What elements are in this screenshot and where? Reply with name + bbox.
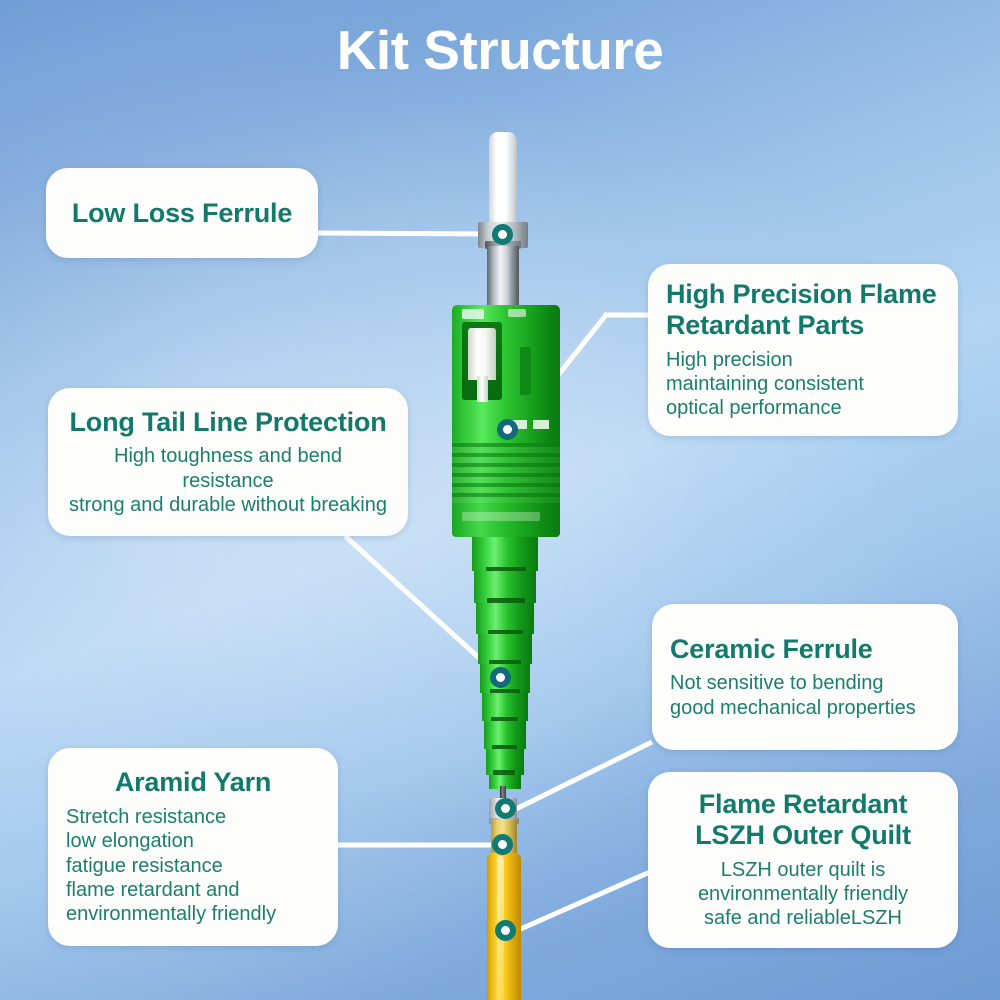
leader-line-ceramic-ferrule <box>516 742 652 809</box>
callout-heading-aramid-yarn: Aramid Yarn <box>115 767 271 798</box>
boot-notch-8 <box>493 770 515 777</box>
leader-line-low-loss-ferrule <box>318 233 494 234</box>
strain-relief-boot-segment-8 <box>486 749 524 775</box>
housing-foot <box>452 503 560 537</box>
leader-line-high-precision-diagonal <box>516 315 606 428</box>
callout-body-high-precision: High precision maintaining consistent op… <box>666 348 940 421</box>
strain-relief-boot-segment-9 <box>489 775 521 789</box>
body-line-4: flame retardant and <box>66 878 320 902</box>
callout-dot-high-precision <box>497 419 518 440</box>
leader-line-lszh <box>516 872 650 931</box>
boot-notch-1 <box>486 567 526 574</box>
latch-window <box>462 322 502 400</box>
leader-line-long-tail <box>345 536 500 677</box>
body-line-2: good mechanical properties <box>670 696 940 720</box>
boot-notch-2 <box>487 598 525 605</box>
metal-barrel <box>487 246 519 308</box>
housing-bar-right <box>533 420 549 429</box>
body-line-3: fatigue resistance <box>66 854 320 878</box>
housing-ribbed-grip <box>452 443 560 503</box>
boot-notch-7 <box>492 745 517 752</box>
callout-card-flame-retardant-lszh-outer-quilt[interactable]: Flame Retardant LSZH Outer Quilt LSZH ou… <box>648 772 958 948</box>
housing-foot-highlight <box>462 512 540 521</box>
ceramic-ferrule-tip <box>489 132 517 227</box>
strain-relief-boot-segment-7 <box>484 721 526 749</box>
heading-line-2: Retardant Parts <box>666 310 864 340</box>
boot-notch-5 <box>490 689 520 696</box>
callout-heading-ceramic-ferrule: Ceramic Ferrule <box>670 634 940 665</box>
callout-body-lszh: LSZH outer quilt is environmentally frie… <box>666 858 940 931</box>
callout-dot-low-loss-ferrule <box>492 224 513 245</box>
callout-heading-high-precision: High Precision Flame Retardant Parts <box>666 279 940 341</box>
strain-relief-boot-segment-6 <box>482 693 528 721</box>
body-line-1: High precision <box>666 348 940 372</box>
callout-heading-low-loss-ferrule: Low Loss Ferrule <box>72 198 292 229</box>
callout-card-long-tail-line-protection[interactable]: Long Tail Line Protection High toughness… <box>48 388 408 536</box>
housing-side-slot <box>520 347 531 395</box>
callout-body-long-tail: High toughness and bend resistance stron… <box>66 444 390 517</box>
body-line-3: safe and reliableLSZH <box>666 906 940 930</box>
strain-relief-boot-segment-2 <box>474 571 536 603</box>
white-latch-body <box>468 328 496 380</box>
callout-dot-ceramic-ferrule <box>495 798 516 819</box>
callout-card-high-precision-flame-retardant-parts[interactable]: High Precision Flame Retardant Parts Hig… <box>648 264 958 436</box>
body-line-1: LSZH outer quilt is <box>666 858 940 882</box>
body-line-2: strong and durable without breaking <box>66 493 390 517</box>
body-line-1: High toughness and bend resistance <box>66 444 390 493</box>
page-title: Kit Structure <box>0 18 1000 82</box>
callout-card-ceramic-ferrule[interactable]: Ceramic Ferrule Not sensitive to bending… <box>652 604 958 750</box>
heading-line-2: LSZH Outer Quilt <box>695 820 911 850</box>
body-line-3: optical performance <box>666 396 940 420</box>
body-line-2: low elongation <box>66 829 320 853</box>
callout-dot-long-tail <box>490 667 511 688</box>
strain-relief-boot-segment-3 <box>476 603 534 634</box>
white-latch-stem <box>477 376 488 402</box>
callout-body-aramid-yarn: Stretch resistance low elongation fatigu… <box>66 805 320 927</box>
body-line-2: environmentally friendly <box>666 882 940 906</box>
boot-notch-4 <box>489 660 521 667</box>
housing-notch-left <box>462 309 484 319</box>
infographic-canvas: Kit Structure <box>0 0 1000 1000</box>
callout-card-low-loss-ferrule[interactable]: Low Loss Ferrule <box>46 168 318 258</box>
body-line-1: Not sensitive to bending <box>670 671 940 695</box>
callout-dot-aramid-yarn <box>492 834 513 855</box>
body-line-5: environmentally friendly <box>66 902 320 926</box>
housing-notch-right <box>508 309 526 317</box>
boot-notch-6 <box>491 717 518 724</box>
strain-relief-boot-segment-4 <box>478 634 532 664</box>
callout-body-ceramic-ferrule: Not sensitive to bending good mechanical… <box>670 671 940 720</box>
callout-card-aramid-yarn[interactable]: Aramid Yarn Stretch resistance low elong… <box>48 748 338 946</box>
callout-dot-lszh <box>495 920 516 941</box>
boot-notch-3 <box>488 630 523 637</box>
body-line-1: Stretch resistance <box>66 805 320 829</box>
body-line-2: maintaining consistent <box>666 372 940 396</box>
callout-heading-lszh: Flame Retardant LSZH Outer Quilt <box>666 789 940 851</box>
heading-line-1: High Precision Flame <box>666 279 937 309</box>
callout-heading-long-tail: Long Tail Line Protection <box>70 407 387 438</box>
strain-relief-boot-segment-1 <box>472 537 538 571</box>
heading-line-1: Flame Retardant <box>699 789 908 819</box>
